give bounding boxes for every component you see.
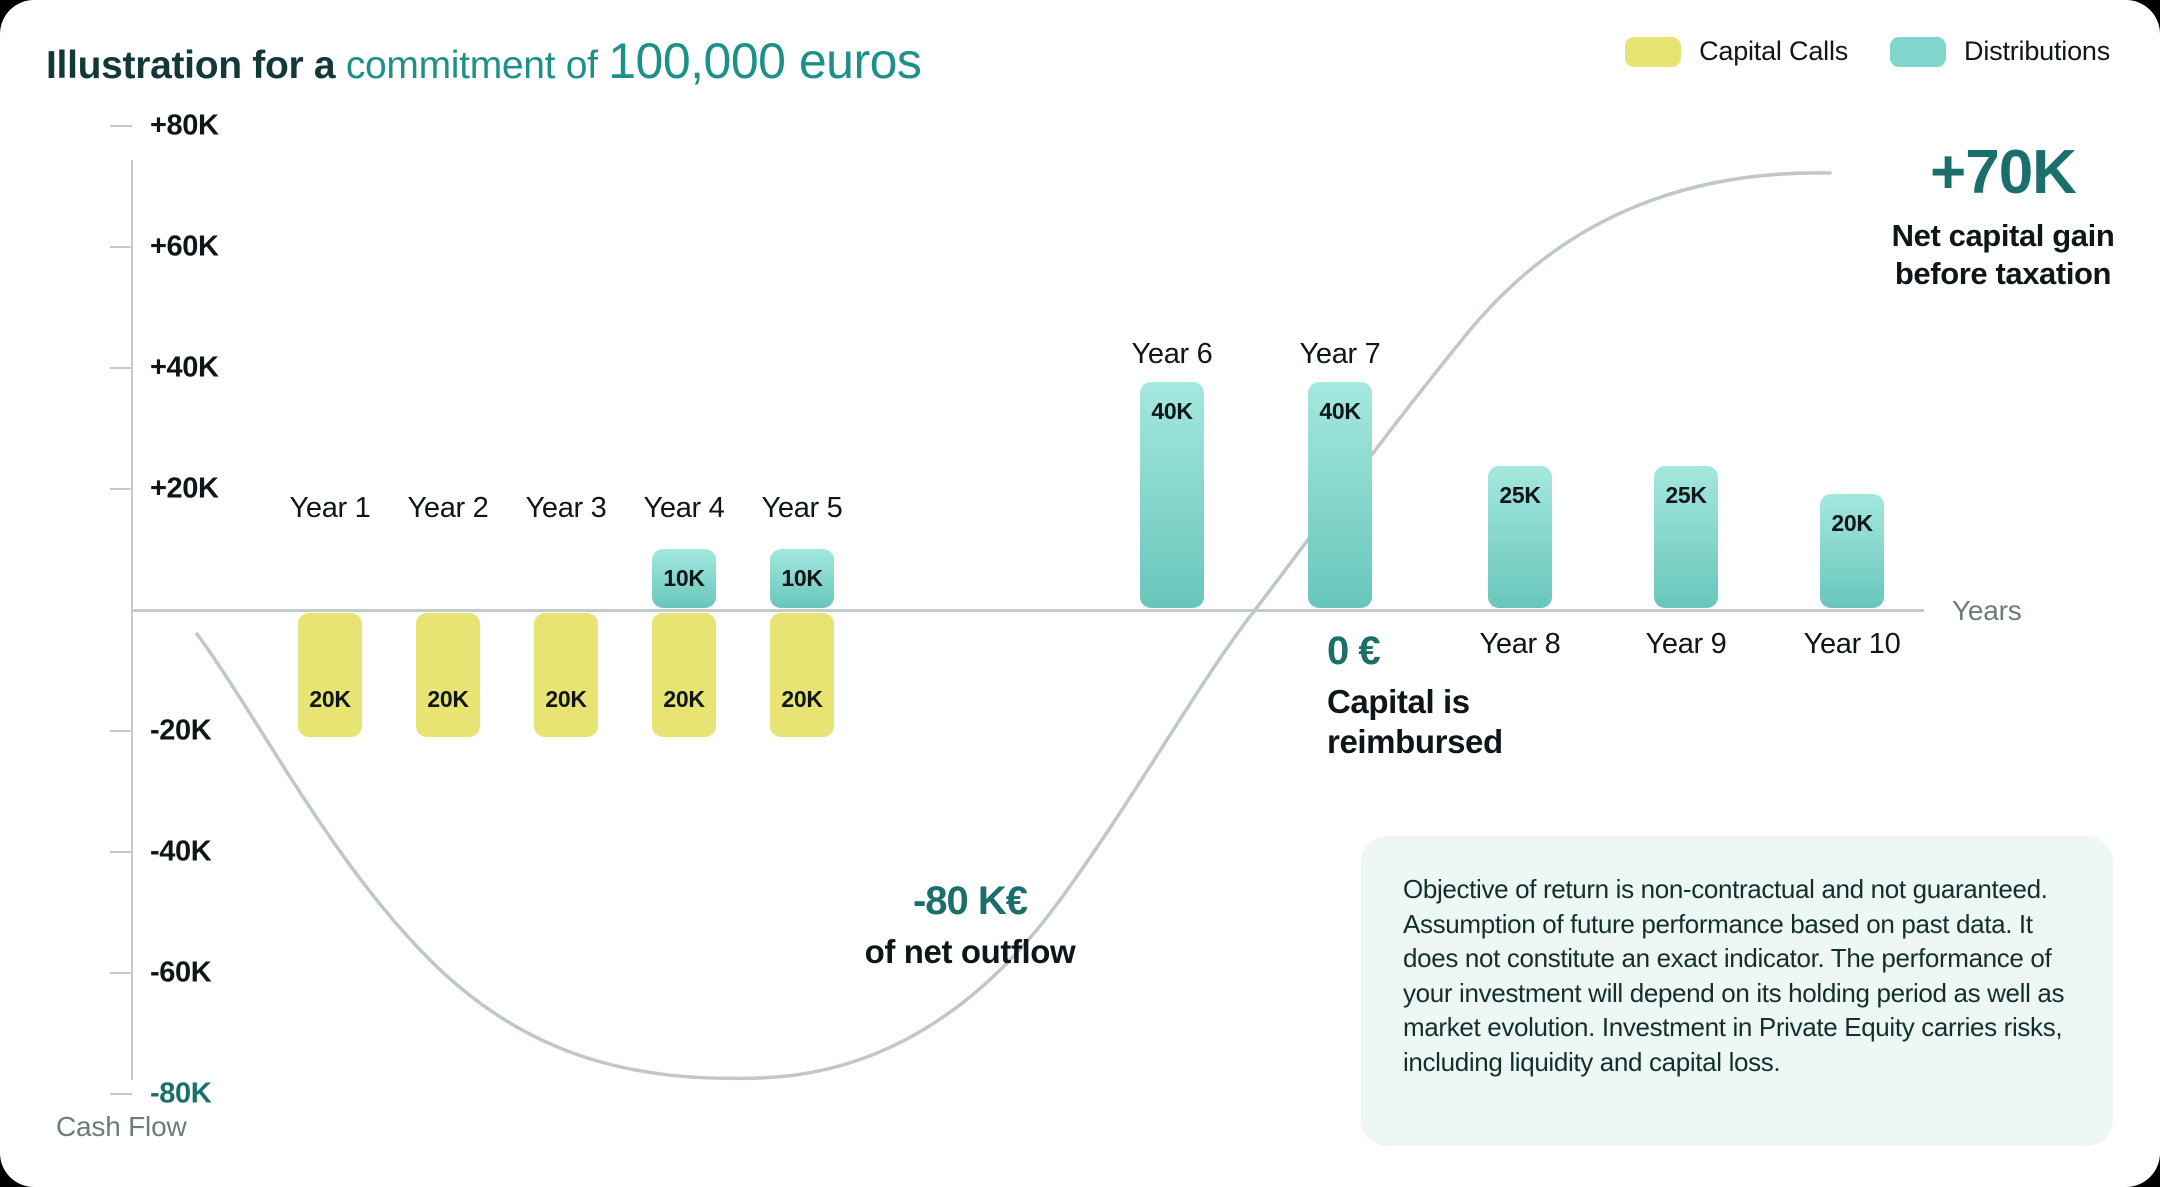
annotation-zero-value: 0 €	[1327, 630, 1503, 672]
x-label-year-6: Year 6	[1092, 338, 1252, 371]
bar-year-7-distributions[interactable]: 40K	[1308, 382, 1372, 608]
bar-value-label: 25K	[1654, 482, 1718, 509]
x-label-year-9: Year 9	[1606, 628, 1766, 661]
bar-year-6-distributions[interactable]: 40K	[1140, 382, 1204, 608]
y-axis-label: Cash Flow	[56, 1111, 186, 1143]
bar-year-3-capital-calls[interactable]: 20K	[534, 613, 598, 737]
y-tick--20K	[110, 730, 132, 732]
y-tick-+20K	[110, 488, 132, 490]
y-tick-label-+20K: +20K	[150, 473, 219, 506]
disclaimer-text: Objective of return is non-contractual a…	[1403, 872, 2071, 1079]
y-tick--40K	[110, 851, 132, 853]
bar-value-label: 10K	[770, 565, 834, 592]
y-tick-label--80K: -80K	[150, 1078, 211, 1111]
annotation-net-gain: +70K Net capital gain before taxation	[1843, 140, 2160, 293]
bar-value-label: 20K	[298, 686, 362, 713]
y-tick-+80K	[110, 125, 132, 127]
bar-year-5-distributions[interactable]: 10K	[770, 549, 834, 608]
bar-year-5-capital-calls[interactable]: 20K	[770, 613, 834, 737]
annotation-zero-text: Capital is reimbursed	[1327, 682, 1503, 763]
bar-value-label: 20K	[770, 686, 834, 713]
annotation-outflow-text: of net outflow	[820, 932, 1120, 972]
annotation-net-gain-text: Net capital gain before taxation	[1843, 217, 2160, 293]
y-axis-line	[131, 160, 133, 1080]
disclaimer-box: Objective of return is non-contractual a…	[1361, 836, 2113, 1146]
bar-value-label: 20K	[534, 686, 598, 713]
bar-value-label: 20K	[652, 686, 716, 713]
bar-year-8-distributions[interactable]: 25K	[1488, 466, 1552, 608]
bar-year-4-distributions[interactable]: 10K	[652, 549, 716, 608]
annotation-zero-line2: reimbursed	[1327, 722, 1503, 762]
x-label-year-7: Year 7	[1260, 338, 1420, 371]
x-label-year-10: Year 10	[1772, 628, 1932, 661]
annotation-net-gain-line2: before taxation	[1843, 255, 2160, 293]
bar-year-10-distributions[interactable]: 20K	[1820, 494, 1884, 608]
annotation-net-gain-value: +70K	[1843, 140, 2160, 205]
bar-year-4-capital-calls[interactable]: 20K	[652, 613, 716, 737]
annotation-net-outflow: -80 K€ of net outflow	[820, 880, 1120, 972]
y-tick--80K	[110, 1093, 132, 1095]
y-tick-+40K	[110, 367, 132, 369]
y-tick-label--40K: -40K	[150, 836, 211, 869]
bar-value-label: 40K	[1140, 398, 1204, 425]
bar-value-label: 10K	[652, 565, 716, 592]
annotation-zero-line1: Capital is	[1327, 682, 1503, 722]
zero-baseline	[131, 609, 1924, 612]
bar-value-label: 20K	[416, 686, 480, 713]
y-tick-label-+40K: +40K	[150, 352, 219, 385]
y-tick-label--60K: -60K	[150, 957, 211, 990]
y-tick-label-+60K: +60K	[150, 231, 219, 264]
y-tick--60K	[110, 972, 132, 974]
annotation-outflow-value: -80 K€	[820, 880, 1120, 922]
chart-card: Illustration for a commitment of 100,000…	[0, 0, 2160, 1187]
bar-value-label: 40K	[1308, 398, 1372, 425]
y-tick-+60K	[110, 246, 132, 248]
annotation-net-gain-line1: Net capital gain	[1843, 217, 2160, 255]
y-tick-label-+80K: +80K	[150, 110, 219, 143]
bar-value-label: 25K	[1488, 482, 1552, 509]
x-axis-label: Years	[1952, 595, 2022, 627]
bar-year-2-capital-calls[interactable]: 20K	[416, 613, 480, 737]
bar-value-label: 20K	[1820, 510, 1884, 537]
bar-year-1-capital-calls[interactable]: 20K	[298, 613, 362, 737]
annotation-capital-reimbursed: 0 € Capital is reimbursed	[1327, 630, 1503, 763]
y-tick-label--20K: -20K	[150, 715, 211, 748]
x-label-year-5: Year 5	[722, 492, 882, 525]
bar-year-9-distributions[interactable]: 25K	[1654, 466, 1718, 608]
